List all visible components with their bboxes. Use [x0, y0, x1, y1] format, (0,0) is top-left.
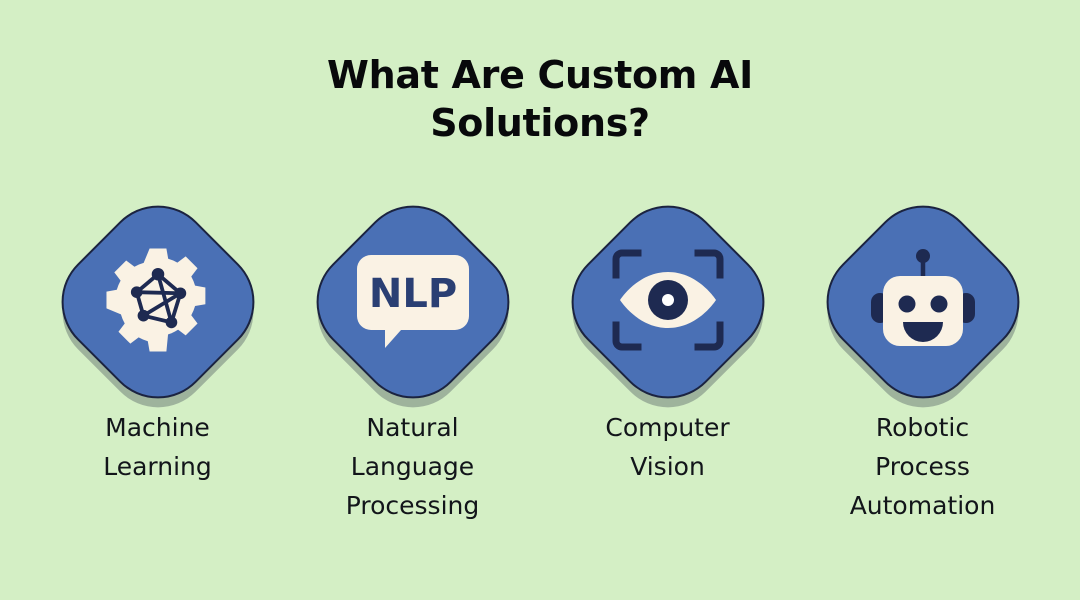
feature-card-computer-vision[interactable]: Computer Vision: [540, 205, 795, 487]
feature-card-robotic-process-automation[interactable]: Robotic Process Automation: [795, 205, 1050, 525]
feature-card-label: Natural Language Processing: [346, 409, 480, 525]
badge-robotic-process-automation[interactable]: [813, 205, 1033, 395]
badge-computer-vision[interactable]: [558, 205, 778, 395]
feature-card-natural-language-processing[interactable]: NLP Natural Language Processing: [285, 205, 540, 525]
feature-card-machine-learning[interactable]: Machine Learning: [30, 205, 285, 487]
badge-natural-language-processing[interactable]: NLP: [303, 205, 523, 395]
nlp-label: NLP: [368, 271, 456, 317]
neural-network-gear-icon: [98, 240, 218, 360]
feature-card-label: Computer Vision: [605, 409, 729, 487]
slide-canvas: What Are Custom AI Solutions?: [0, 0, 1080, 600]
nlp-speech-bubble-icon: NLP: [353, 240, 473, 360]
feature-card-label: Machine Learning: [103, 409, 212, 487]
feature-card-label: Robotic Process Automation: [850, 409, 996, 525]
badge-machine-learning[interactable]: [48, 205, 268, 395]
page-title: What Are Custom AI Solutions?: [0, 52, 1080, 148]
feature-card-row: Machine Learning NLP Natural Language Pr…: [0, 205, 1080, 525]
robot-head-icon: [863, 240, 983, 360]
eye-scan-icon: [608, 240, 728, 360]
